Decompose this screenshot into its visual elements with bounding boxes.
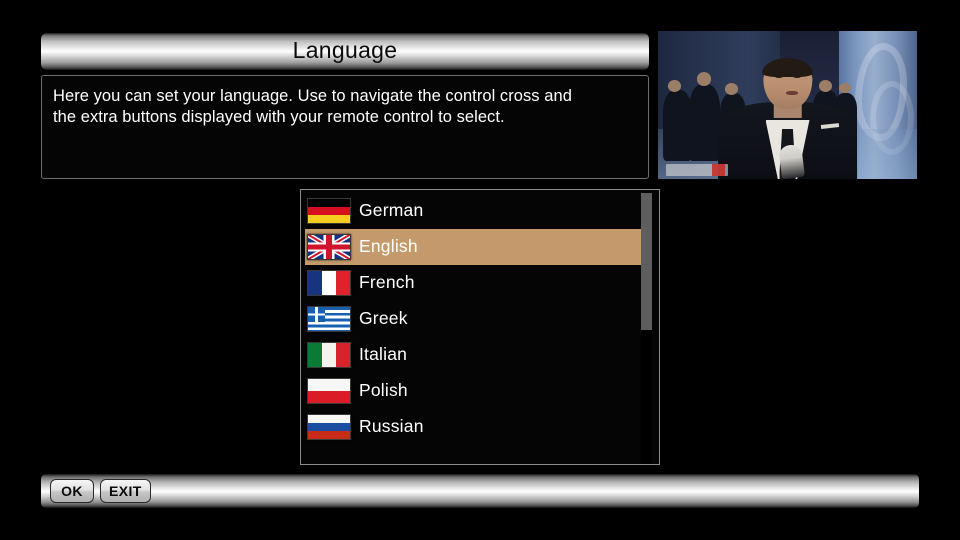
scrollbar[interactable] [641, 192, 652, 464]
flag-united-kingdom-icon [307, 234, 351, 260]
list-item-label: Polish [359, 382, 408, 400]
video-crowd-head [725, 83, 738, 95]
flag-italy-icon [307, 342, 351, 368]
list-item-label: Italian [359, 346, 407, 364]
list-item-label: French [359, 274, 415, 292]
list-item[interactable]: Greek [305, 301, 645, 337]
page-title: Language [293, 39, 398, 62]
flag-germany-icon [307, 198, 351, 224]
flag-greece-icon [307, 306, 351, 332]
ok-button-label: OK [61, 483, 83, 499]
list-item[interactable]: Polish [305, 373, 645, 409]
video-preview[interactable] [658, 31, 917, 179]
video-crowd-head [697, 72, 711, 85]
list-item-label: Greek [359, 310, 408, 328]
flag-france-icon [307, 270, 351, 296]
video-reporter-mouth [786, 91, 798, 95]
ok-button[interactable]: OK [50, 479, 94, 503]
list-item-label: Russian [359, 418, 424, 436]
title-bar: Language [41, 33, 649, 70]
flag-russia-icon [307, 414, 351, 440]
tv-settings-screen: Language Here you can set your language.… [0, 0, 960, 540]
video-crowd-figure [663, 90, 691, 161]
video-crowd-head [839, 83, 851, 93]
video-crowd-figure [689, 84, 720, 161]
list-item[interactable]: English [305, 229, 645, 265]
video-crowd-head [668, 80, 681, 92]
language-list: German English French [305, 193, 645, 445]
language-list-panel: German English French [300, 189, 660, 465]
flag-poland-icon [307, 378, 351, 404]
list-item[interactable]: Italian [305, 337, 645, 373]
video-channel-logo-accent [712, 164, 725, 176]
help-text-box: Here you can set your language. Use to n… [41, 75, 649, 179]
list-item-label: German [359, 202, 423, 220]
video-crowd-head [819, 80, 832, 92]
list-item[interactable]: German [305, 193, 645, 229]
list-item-label: English [359, 238, 418, 256]
softkey-bar: OK EXIT [41, 474, 919, 508]
help-text: Here you can set your language. Use to n… [53, 86, 637, 128]
exit-button[interactable]: EXIT [100, 479, 151, 503]
list-item[interactable]: French [305, 265, 645, 301]
scrollbar-thumb[interactable] [641, 193, 652, 330]
exit-button-label: EXIT [109, 483, 142, 499]
list-item[interactable]: Russian [305, 409, 645, 445]
